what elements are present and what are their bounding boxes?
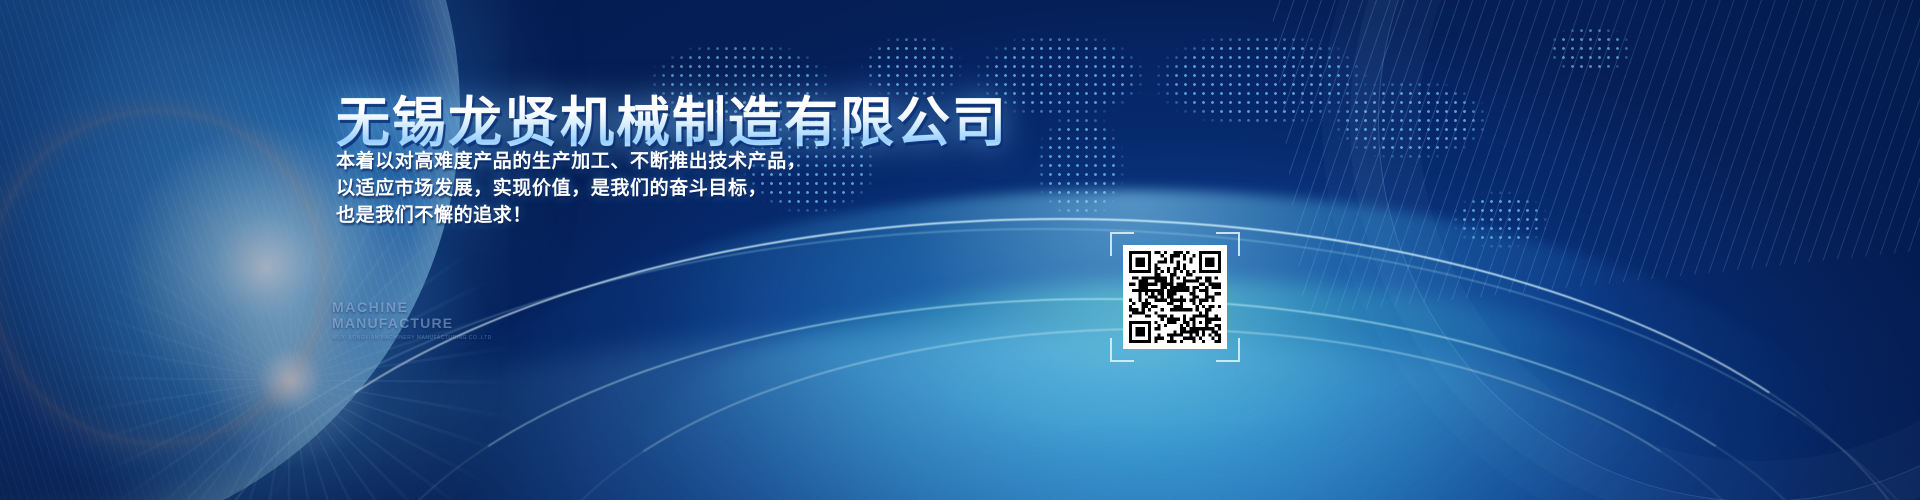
hero-banner: 无锡龙贤机械制造有限公司 本着以对高难度产品的生产加工、不断推出技术产品， 以适… (0, 0, 1920, 500)
slogan-block: 本着以对高难度产品的生产加工、不断推出技术产品， 以适应市场发展，实现价值，是我… (336, 148, 806, 229)
wordmark-line-2: MANUFACTURE (332, 315, 492, 331)
qr-code-frame (1110, 232, 1240, 362)
slogan-line-1: 本着以对高难度产品的生产加工、不断推出技术产品， (336, 148, 806, 175)
slogan-line-2: 以适应市场发展，实现价值，是我们的奋斗目标， (336, 175, 806, 202)
slogan-line-3: 也是我们不懈的追求！ (336, 202, 806, 229)
vignette-overlay (0, 0, 1920, 500)
qr-code-icon[interactable] (1123, 245, 1227, 349)
wordmark-line-1: MACHINE (332, 300, 492, 315)
company-title: 无锡龙贤机械制造有限公司 (336, 78, 1008, 157)
watermark-wordmark: MACHINE MANUFACTURE WUXI LONGXIAN MACHIN… (332, 300, 492, 342)
wordmark-line-3: WUXI LONGXIAN MACHINERY MANUFACTURING CO… (332, 334, 492, 342)
